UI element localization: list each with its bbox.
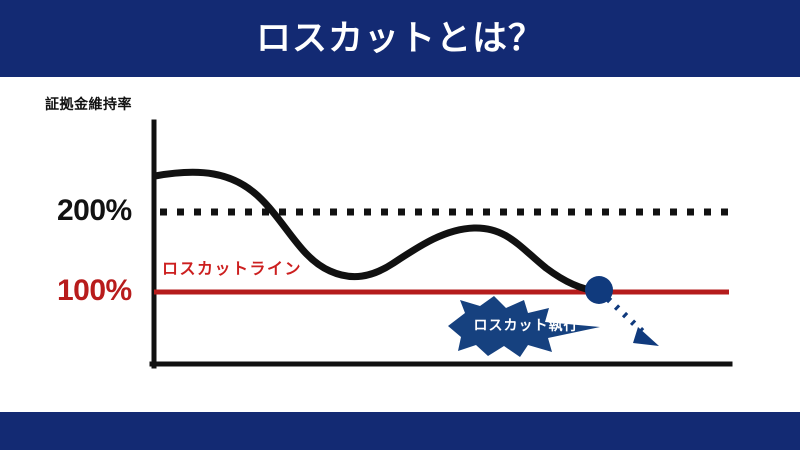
footer-banner xyxy=(0,412,800,450)
losscut-arrow xyxy=(608,299,659,346)
losscut-line-label: ロスカットライン xyxy=(162,262,302,278)
y-tick-label-100: 100% xyxy=(57,276,132,306)
slide-canvas: ロスカットとは？ 証拠金維持率 200% 100% ロスカットライン ロスカット… xyxy=(0,0,800,450)
y-tick-label-200: 200% xyxy=(57,196,132,226)
losscut-burst-label: ロスカット執行 xyxy=(466,318,586,332)
y-axis-title: 証拠金維持率 xyxy=(45,97,132,111)
losscut-point-marker xyxy=(585,276,613,304)
